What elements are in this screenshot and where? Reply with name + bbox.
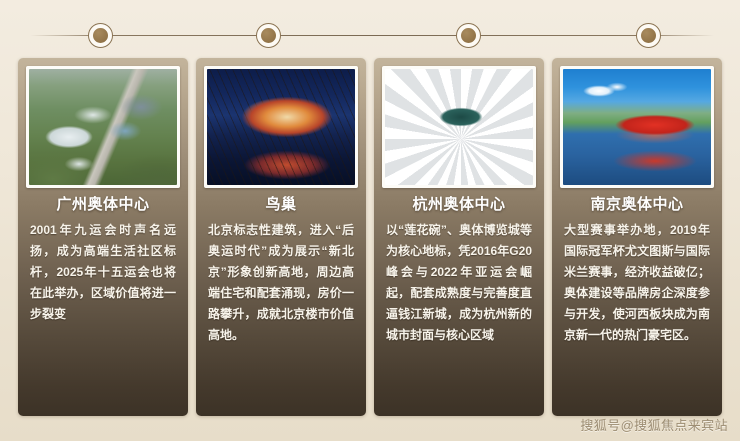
timeline-node-4[interactable] bbox=[636, 23, 661, 48]
card-birds-nest[interactable]: 鸟巢 北京标志性建筑，进入“后奥运时代”成为展示“新北京”形象创新高地，周边高端… bbox=[196, 58, 366, 416]
timeline-rail-group bbox=[0, 0, 740, 58]
card-description: 2001年九运会时声名远扬，成为高端生活社区标杆，2025年十五运会也将在此举办… bbox=[26, 220, 180, 325]
card-photo-frame bbox=[382, 66, 536, 188]
timeline-dot-icon bbox=[461, 28, 476, 43]
card-hangzhou[interactable]: 杭州奥体中心 以“莲花碗”、奥体博览城等为核心地标，凭2016年G20峰会与20… bbox=[374, 58, 544, 416]
photo-nanjing-olympic-sports-center bbox=[563, 69, 711, 185]
timeline-dot-icon bbox=[93, 28, 108, 43]
timeline-line bbox=[30, 35, 714, 36]
timeline-dot-icon bbox=[261, 28, 276, 43]
card-photo-frame bbox=[204, 66, 358, 188]
timeline-dot-icon bbox=[641, 28, 656, 43]
timeline-node-2[interactable] bbox=[256, 23, 281, 48]
infographic-page: 广州奥体中心 2001年九运会时声名远扬，成为高端生活社区标杆，2025年十五运… bbox=[0, 0, 740, 441]
card-description: 大型赛事举办地，2019年国际冠军杯尤文图斯与国际米兰赛事，经济收益破亿；奥体建… bbox=[560, 220, 714, 346]
photo-guangzhou-olympic-sports-center bbox=[29, 69, 177, 185]
card-title: 南京奥体中心 bbox=[560, 197, 714, 214]
card-title: 杭州奥体中心 bbox=[382, 197, 536, 214]
card-guangzhou[interactable]: 广州奥体中心 2001年九运会时声名远扬，成为高端生活社区标杆，2025年十五运… bbox=[18, 58, 188, 416]
timeline-node-1[interactable] bbox=[88, 23, 113, 48]
photo-beijing-birds-nest-stadium bbox=[207, 69, 355, 185]
watermark: 搜狐号@搜狐焦点来宾站 bbox=[580, 415, 728, 434]
timeline-node-3[interactable] bbox=[456, 23, 481, 48]
card-description: 以“莲花碗”、奥体博览城等为核心地标，凭2016年G20峰会与2022年亚运会崛… bbox=[382, 220, 536, 346]
card-description: 北京标志性建筑，进入“后奥运时代”成为展示“新北京”形象创新高地，周边高端住宅和… bbox=[204, 220, 358, 346]
photo-hangzhou-olympic-sports-center bbox=[385, 69, 533, 185]
card-photo-frame bbox=[26, 66, 180, 188]
card-row: 广州奥体中心 2001年九运会时声名远扬，成为高端生活社区标杆，2025年十五运… bbox=[0, 58, 740, 418]
card-title: 广州奥体中心 bbox=[26, 197, 180, 214]
card-title: 鸟巢 bbox=[204, 197, 358, 214]
card-nanjing[interactable]: 南京奥体中心 大型赛事举办地，2019年国际冠军杯尤文图斯与国际米兰赛事，经济收… bbox=[552, 58, 722, 416]
card-photo-frame bbox=[560, 66, 714, 188]
